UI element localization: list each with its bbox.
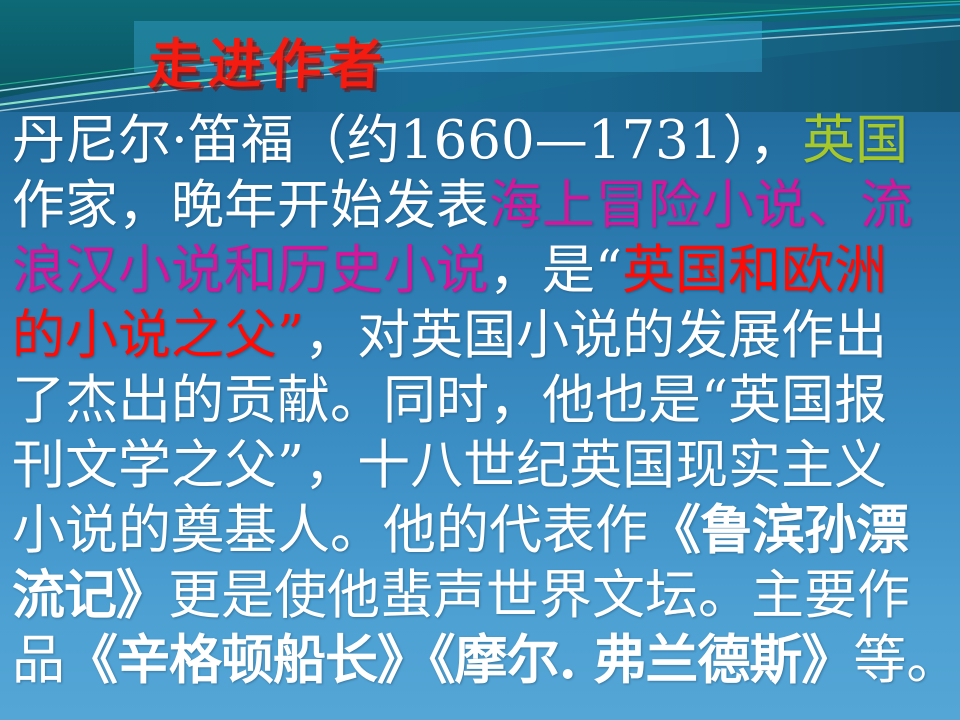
text-run: 更是使他蜚声世界文坛。主要作 [168,565,910,626]
text-run: 英国和欧洲 [622,240,887,301]
text-line: 丹尼尔·笛福（约1660—1731），英国 [12,108,960,173]
text-run: 品 [12,630,65,691]
presentation-slide: 走进作者 丹尼尔·笛福（约1660—1731），英国 作家，晚年开始发表海上冒险… [0,0,960,720]
page-title: 走进作者 [147,36,389,94]
text-line: 浪汉小说和历史小说，是“英国和欧洲 [12,238,960,303]
text-run: 丹尼尔·笛福（约1660—1731）， [12,110,802,171]
text-run: 小说的奠基人。他的代表作 [12,500,648,561]
text-run: 《辛格顿船长》《摩尔. 弗兰德斯》 [65,629,853,691]
text-run: 等。 [853,630,959,691]
text-run: 浪汉小说和历史小说 [12,240,489,301]
text-run: 作家，晚年开始发表 [12,175,489,236]
text-line: 的小说之父”，对英国小说的发展作出 [12,303,960,368]
text-line: 品《辛格顿船长》《摩尔. 弗兰德斯》等。 [12,628,960,693]
text-run: 《鲁滨孙漂 [648,499,908,561]
text-line: 流记》更是使他蜚声世界文坛。主要作 [12,563,960,628]
text-run: 了杰出的贡献。同时，他也是“英国报 [12,370,887,431]
text-run: 的小说之父” [12,305,304,366]
text-line: 作家，晚年开始发表海上冒险小说、流 [12,173,960,238]
text-line: 刊文学之父”，十八世纪英国现实主义 [12,433,960,498]
text-run: 流记》 [12,564,168,626]
text-line: 了杰出的贡献。同时，他也是“英国报 [12,368,960,433]
text-run: 英国 [802,110,908,171]
text-run: ，是“ [489,240,622,301]
body-paragraph: 丹尼尔·笛福（约1660—1731），英国 作家，晚年开始发表海上冒险小说、流 … [12,108,960,693]
text-run: 刊文学之父”，十八世纪英国现实主义 [12,435,887,496]
text-line: 小说的奠基人。他的代表作《鲁滨孙漂 [12,498,960,563]
text-run: ，对英国小说的发展作出 [304,305,887,366]
text-run: 海上冒险小说、流 [489,175,913,236]
